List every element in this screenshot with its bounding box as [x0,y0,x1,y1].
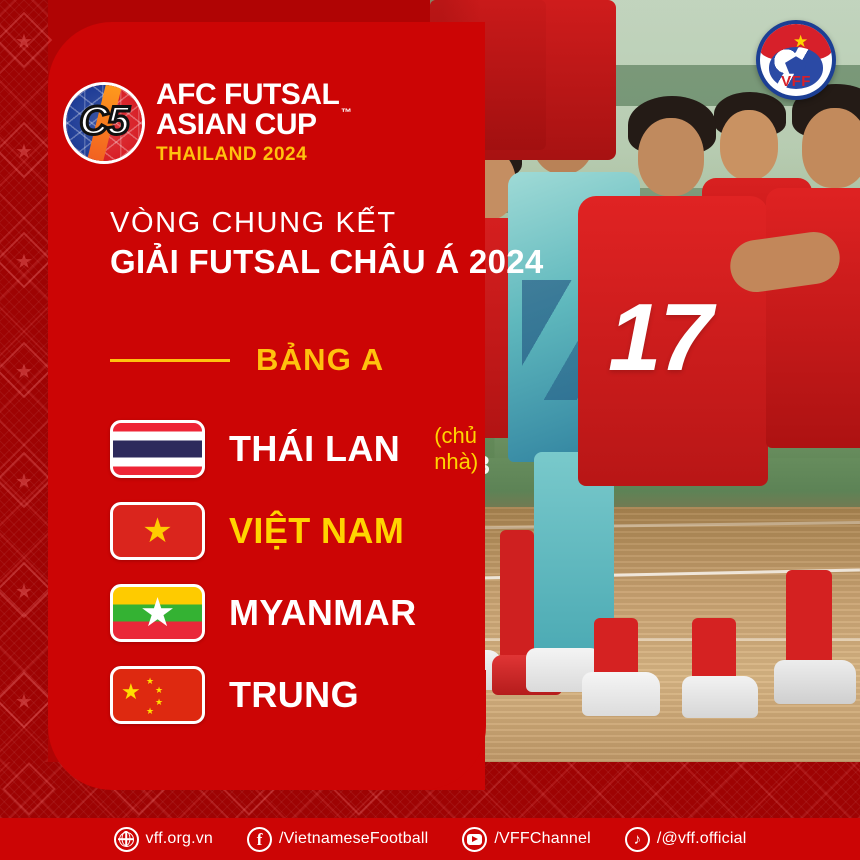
afc-logo-line2-text: ASIAN CUP [156,108,317,141]
pattern-star-icon: ★ [14,362,34,382]
star-icon: ★ [142,514,172,548]
globe-icon [114,827,139,852]
footer-item-youtube[interactable]: /VFFChannel [462,827,590,852]
poster-title: GIẢI FUTSAL CHÂU Á 2024 [110,243,544,281]
footer-item-tiktok[interactable]: ♪ /@vff.official [625,827,747,852]
pattern-star-icon: ★ [14,252,34,272]
afc-logo-host-year: THAILAND 2024 [156,144,339,166]
footer-label-youtube: /VFFChannel [494,830,590,848]
china-flag: ★ ★ ★ ★ ★ [110,666,205,724]
afc-logo-text: AFC FUTSAL ASIAN CUP ™ THAILAND 2024 [156,80,339,166]
team-note: (chủ nhà) [434,423,485,475]
team-name: VIỆT NAM [229,510,404,552]
star-icon: ★ [140,593,176,633]
tiktok-icon: ♪ [625,827,650,852]
social-footer: vff.org.vn f /VietnameseFootball /VFFCha… [0,818,860,860]
team-list: THÁI LAN (chủ nhà) ★ VIỆT NAM ★ MYANMAR … [110,420,485,724]
pattern-star-icon: ★ [14,472,34,492]
youtube-glyph [467,834,482,845]
youtube-icon [462,827,487,852]
c5-mark: C5 [66,85,142,161]
pattern-star-icon: ★ [14,32,34,52]
list-item: ★ VIỆT NAM [110,502,485,560]
footer-item-website[interactable]: vff.org.vn [114,827,214,852]
footer-item-facebook[interactable]: f /VietnameseFootball [247,827,428,852]
list-item: ★ MYANMAR [110,584,485,642]
group-label: BẢNG A [256,342,384,378]
star-icon: ★ [121,681,141,703]
facebook-icon: f [247,827,272,852]
myanmar-flag: ★ [110,584,205,642]
trademark-symbol: ™ [341,108,352,119]
poster-canvas: 13 17 [0,0,860,860]
photo-edge-shade [430,0,860,818]
pattern-star-icon: ★ [14,692,34,712]
star-icon: ★ [155,698,163,707]
vietnam-futsal-team-photo: 13 17 [430,0,860,818]
poster-subtitle: VÒNG CHUNG KẾT [110,207,397,240]
vff-crest-inner: ★ VFF [760,24,832,96]
star-icon: ★ [146,677,154,686]
star-icon: ★ [146,707,154,716]
footer-label-website: vff.org.vn [146,830,214,848]
afc-logo-line2: ASIAN CUP ™ [156,110,339,139]
tiktok-glyph: ♪ [634,832,642,847]
vff-crest-label: VFF [760,73,832,90]
pattern-star-icon: ★ [14,582,34,602]
vietnam-flag: ★ [110,502,205,560]
group-rule-divider [110,359,230,362]
list-item: THÁI LAN (chủ nhà) [110,420,485,478]
star-icon: ★ [155,686,163,695]
afc-futsal-asian-cup-logo: C5 AFC FUTSAL ASIAN CUP ™ THAILAND 2024 [66,80,339,166]
team-name: MYANMAR [229,592,416,634]
group-info-card: C5 AFC FUTSAL ASIAN CUP ™ THAILAND 2024 … [48,22,485,790]
globe-glyph [119,832,134,847]
team-name: TRUNG QUỐC [229,674,479,716]
team-name: THÁI LAN [229,428,400,470]
thailand-flag [110,420,205,478]
afc-logo-line1: AFC FUTSAL [156,80,339,109]
footer-label-tiktok: /@vff.official [657,830,747,848]
footer-label-facebook: /VietnameseFootball [279,830,428,848]
list-item: ★ ★ ★ ★ ★ TRUNG QUỐC [110,666,485,724]
vff-crest: ★ VFF [756,20,836,100]
afc-futsal-c5-badge: C5 [66,85,142,161]
pattern-frame-left: ★ ★ ★ ★ ★ ★ ★ [0,0,48,818]
facebook-glyph: f [257,831,263,848]
group-header: BẢNG A [110,342,384,378]
pattern-star-icon: ★ [14,142,34,162]
